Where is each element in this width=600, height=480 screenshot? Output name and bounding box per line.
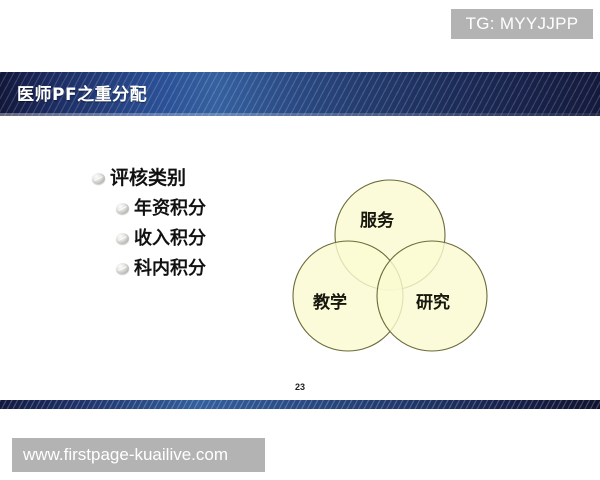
silver-disc-bullet-icon <box>92 173 106 185</box>
venn-diagram: 服务 教学 研究 <box>288 178 493 358</box>
slide-footer-band <box>0 400 600 409</box>
venn-label-top: 服务 <box>360 206 394 231</box>
bottom-site-watermark: www.firstpage-kuailive.com <box>12 438 265 472</box>
bullet-label: 科内积分 <box>134 258 206 279</box>
bullet-label: 年资积分 <box>134 198 206 219</box>
bullet-label: 收入积分 <box>134 228 206 249</box>
venn-svg <box>288 178 493 358</box>
bullet-label: 评核类别 <box>110 168 186 189</box>
venn-label-left: 教学 <box>313 288 347 313</box>
list-item: 评核类别 <box>92 168 292 189</box>
list-item: 科内积分 <box>116 258 292 279</box>
silver-disc-bullet-icon <box>116 203 130 215</box>
list-item: 年资积分 <box>116 198 292 219</box>
silver-disc-bullet-icon <box>116 263 130 275</box>
list-item: 收入积分 <box>116 228 292 249</box>
top-watermark-badge: TG: MYYJJPP <box>451 9 593 39</box>
slide-title: 医师PF之重分配 <box>17 80 147 105</box>
slide-canvas: 医师PF之重分配 评核类别 年资积分 收入积分 科内积分 <box>0 50 600 410</box>
page-number: 23 <box>0 382 600 392</box>
silver-disc-bullet-icon <box>116 233 130 245</box>
bullet-list: 评核类别 年资积分 收入积分 科内积分 <box>92 168 292 288</box>
slide-title-band: 医师PF之重分配 <box>0 72 600 116</box>
venn-label-right: 研究 <box>416 288 450 313</box>
